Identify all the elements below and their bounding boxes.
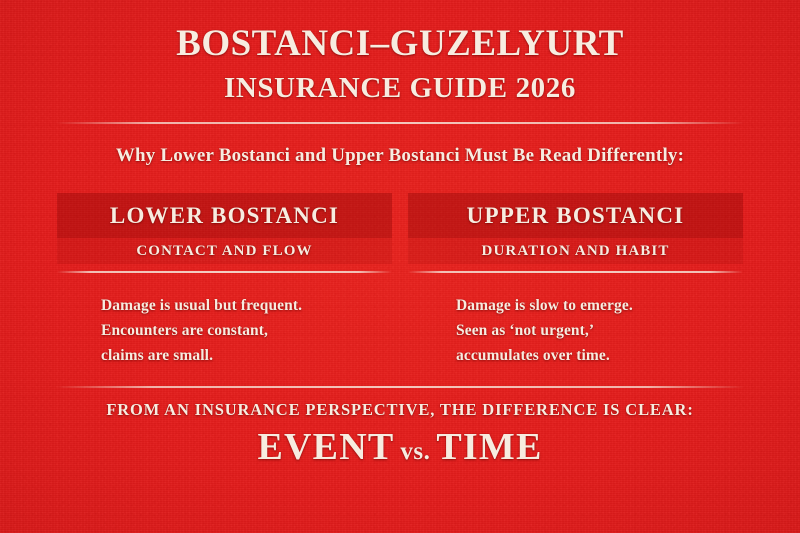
column-divider-left [57, 271, 392, 273]
column-divider-right [408, 271, 743, 273]
body-line: Damage is usual but frequent. [101, 293, 392, 318]
divider-bottom [56, 386, 744, 388]
verdict-right-term: TIME [436, 426, 542, 468]
body-line: claims are small. [101, 343, 392, 368]
body-line: accumulates over time. [456, 343, 743, 368]
body-line: Encounters are constant, [101, 318, 392, 343]
column-header-band-left: LOWER BOSTANCI [57, 193, 392, 238]
column-header-band-right: UPPER BOSTANCI [408, 193, 743, 238]
divider-top [56, 122, 744, 124]
column-title-left: LOWER BOSTANCI [110, 203, 339, 229]
column-subtitle-left: CONTACT AND FLOW [136, 243, 312, 260]
verdict-separator: vs. [394, 438, 436, 465]
column-lower-bostanci: LOWER BOSTANCI CONTACT AND FLOW Damage i… [57, 193, 392, 368]
page-subtitle: INSURANCE GUIDE 2026 [0, 72, 800, 105]
footer-verdict: EVENTvs.TIME [0, 425, 800, 469]
column-upper-bostanci: UPPER BOSTANCI DURATION AND HABIT Damage… [408, 193, 743, 368]
body-line: Damage is slow to emerge. [456, 293, 743, 318]
column-body-right: Damage is slow to emerge. Seen as ‘not u… [408, 293, 743, 368]
column-body-left: Damage is usual but frequent. Encounters… [57, 293, 392, 368]
page-title: BOSTANCI–GUZELYURT [0, 24, 800, 64]
footer-kicker: FROM AN INSURANCE PERSPECTIVE, THE DIFFE… [0, 400, 800, 420]
verdict-left-term: EVENT [257, 426, 394, 468]
column-subheader-band-right: DURATION AND HABIT [408, 238, 743, 264]
poster-canvas: BOSTANCI–GUZELYURT INSURANCE GUIDE 2026 … [0, 0, 800, 533]
column-subtitle-right: DURATION AND HABIT [482, 243, 670, 260]
column-subheader-band-left: CONTACT AND FLOW [57, 238, 392, 264]
column-title-right: UPPER BOSTANCI [467, 203, 685, 229]
body-line: Seen as ‘not urgent,’ [456, 318, 743, 343]
lede-question: Why Lower Bostanci and Upper Bostanci Mu… [0, 145, 800, 167]
